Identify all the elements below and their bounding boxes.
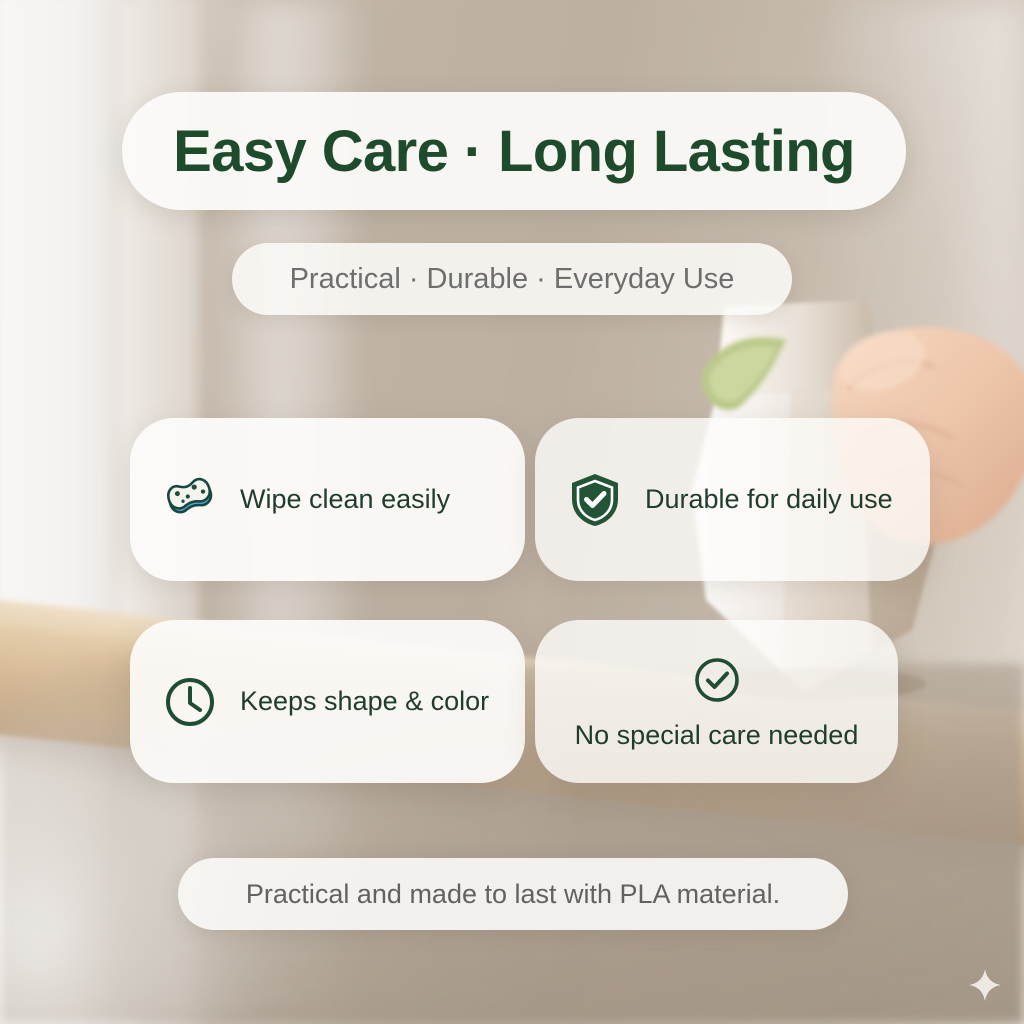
feature-label: Keeps shape & color	[240, 686, 489, 717]
cleaning-cloth-photo	[690, 330, 800, 420]
feature-label: No special care needed	[575, 720, 859, 751]
sparkle-icon	[968, 968, 1002, 1002]
footer-text: Practical and made to last with PLA mate…	[246, 879, 780, 910]
clock-icon	[162, 674, 218, 730]
feature-card-keeps-shape[interactable]: Keeps shape & color	[130, 620, 525, 783]
feature-label: Wipe clean easily	[240, 484, 450, 515]
subtitle-pill: Practical · Durable · Everyday Use	[232, 243, 792, 315]
page-title: Easy Care · Long Lasting	[173, 118, 855, 185]
footer-pill: Practical and made to last with PLA mate…	[178, 858, 848, 930]
feature-card-durable[interactable]: Durable for daily use	[535, 418, 930, 581]
sponge-icon	[162, 472, 218, 528]
feature-label: Durable for daily use	[645, 484, 893, 515]
infographic-canvas: Easy Care · Long Lasting Practical · Dur…	[0, 0, 1024, 1024]
title-pill: Easy Care · Long Lasting	[122, 92, 906, 210]
feature-card-wipe-clean[interactable]: Wipe clean easily	[130, 418, 525, 581]
shield-check-icon	[567, 472, 623, 528]
feature-card-no-special-care[interactable]: No special care needed	[535, 620, 898, 783]
page-subtitle: Practical · Durable · Everyday Use	[290, 263, 735, 296]
check-circle-icon	[689, 652, 745, 708]
